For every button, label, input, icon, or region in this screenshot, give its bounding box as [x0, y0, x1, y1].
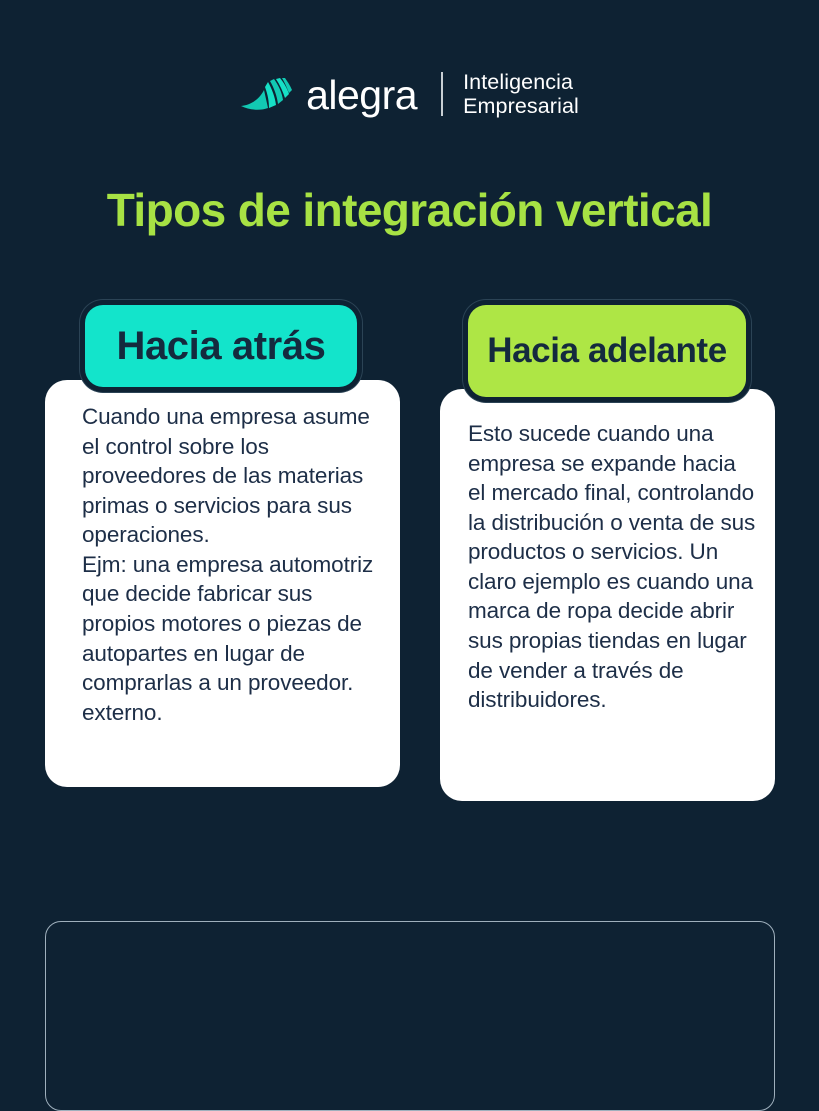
- badge-hacia-atras[interactable]: Hacia atrás: [85, 305, 357, 387]
- comparison-columns: Hacia atrás Cuando una empresa asume el …: [0, 305, 819, 825]
- page-title: Tipos de integración vertical: [60, 183, 759, 237]
- brand-subtitle-line2: Empresarial: [463, 94, 579, 118]
- poster-canvas: alegra Inteligencia Empresarial Tipos de…: [0, 0, 819, 1024]
- footer-outline-panel: [45, 921, 775, 1111]
- badge-hacia-adelante[interactable]: Hacia adelante: [468, 305, 746, 397]
- brand-divider: [441, 72, 443, 116]
- column-hacia-atras: Hacia atrás Cuando una empresa asume el …: [45, 305, 400, 787]
- brand-subtitle: Inteligencia Empresarial: [463, 70, 579, 119]
- column-hacia-adelante: Hacia adelante Esto sucede cuando una em…: [440, 305, 775, 801]
- card-hacia-adelante: Esto sucede cuando una empresa se expand…: [440, 389, 775, 801]
- brand-subtitle-line1: Inteligencia: [463, 70, 573, 94]
- brand-lockup: alegra Inteligencia Empresarial: [0, 66, 819, 122]
- card-hacia-atras: Cuando una empresa asume el control sobr…: [45, 380, 400, 787]
- alegra-fan-logo-icon: [240, 74, 292, 114]
- brand-wordmark: alegra: [306, 75, 417, 116]
